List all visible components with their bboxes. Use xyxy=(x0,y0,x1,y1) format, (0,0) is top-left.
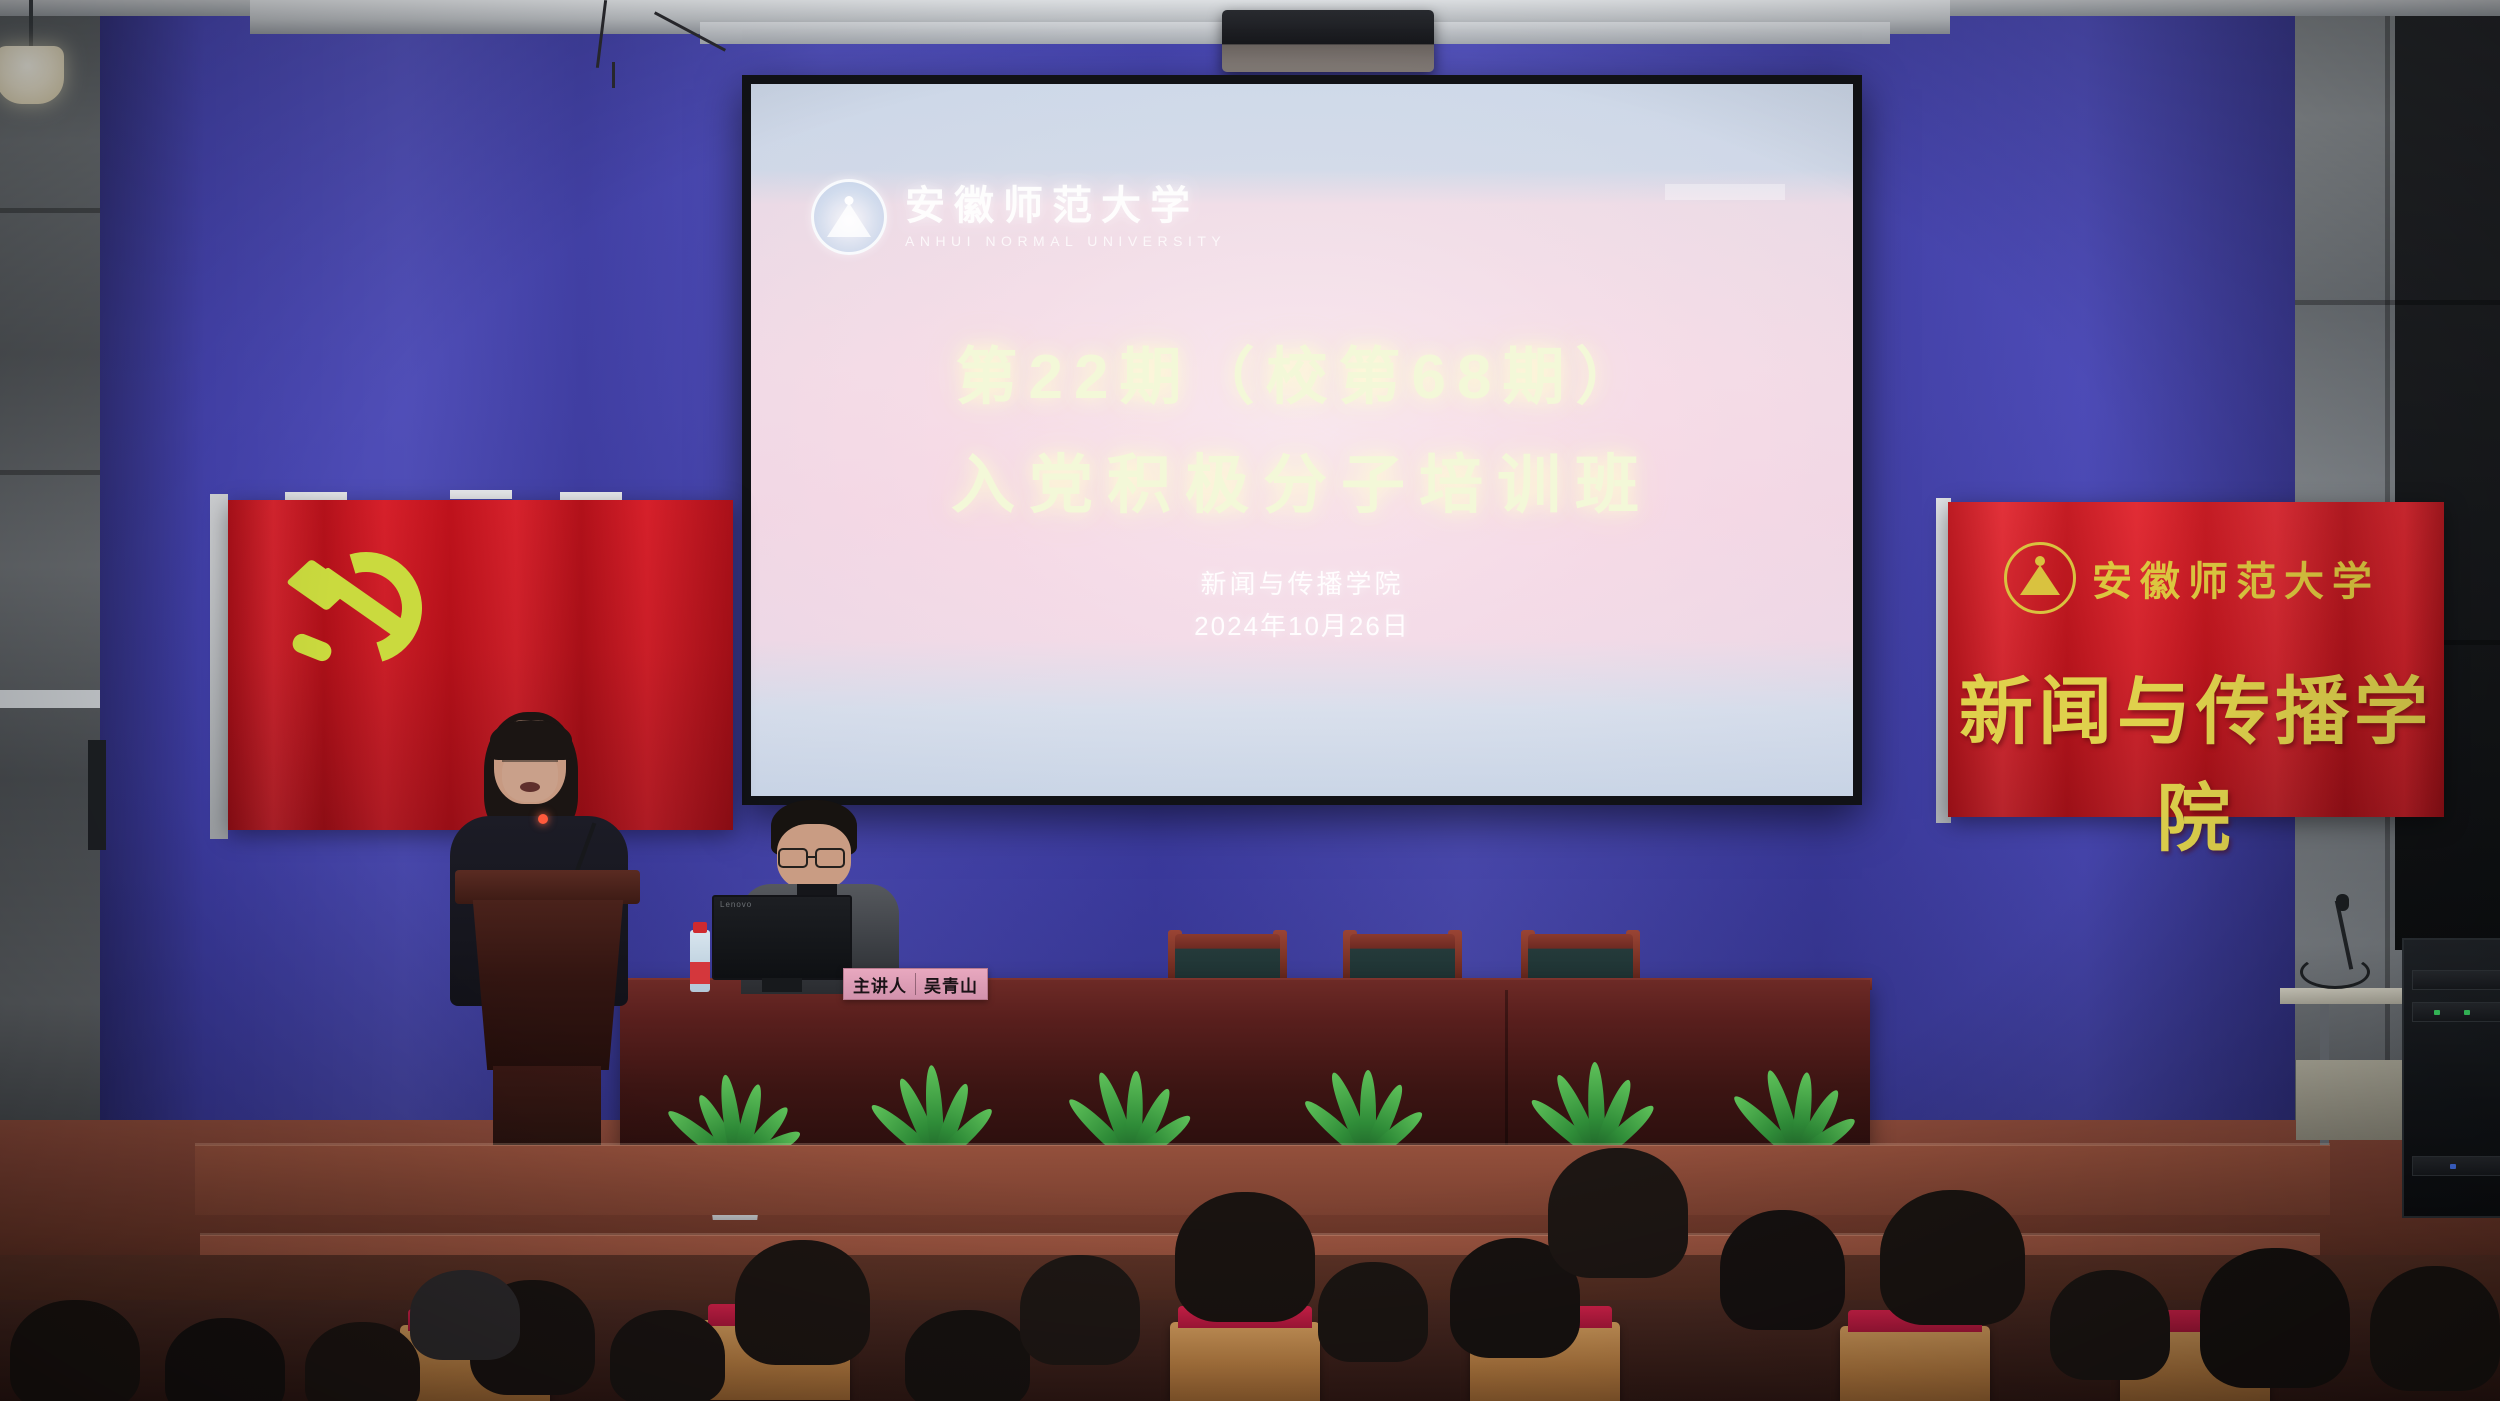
chair-back xyxy=(1350,934,1455,982)
slide-university-logo: 安徽师范大学 ANHUI NORMAL UNIVERSITY xyxy=(811,179,1226,255)
speaker-bangs xyxy=(490,720,572,760)
university-seal-icon xyxy=(811,179,887,255)
microphone-cable xyxy=(2300,955,2370,989)
slide-title-line2: 入党积极分子培训班 xyxy=(751,434,1853,526)
glasses-icon xyxy=(502,760,558,771)
microphone-led-icon xyxy=(538,814,548,824)
audience-head xyxy=(1720,1210,1845,1330)
left-wall-strip xyxy=(0,690,100,708)
university-seal-icon xyxy=(2004,542,2076,614)
slide-department: 新闻与传播学院 xyxy=(751,564,1853,601)
rack-led-icon xyxy=(2450,1164,2456,1169)
glasses-bridge xyxy=(807,856,817,858)
microphone-head xyxy=(2336,894,2349,911)
department-banner: 安徽师范大学 新闻与传播学院 xyxy=(1948,502,2444,817)
monitor-stand xyxy=(762,978,802,992)
audience-head xyxy=(2370,1266,2500,1391)
monitor-brand-label: Lenovo xyxy=(720,900,752,909)
banner-department-name: 新闻与传播学院 xyxy=(1948,652,2444,866)
wall-seam xyxy=(0,470,100,475)
rack-unit xyxy=(2412,1002,2500,1022)
speaker-mouth xyxy=(520,782,540,792)
desk-shelf xyxy=(2296,1060,2416,1140)
flag-tab xyxy=(450,490,512,499)
computer-monitor: Lenovo xyxy=(712,895,852,980)
nameplate-role: 主讲人 xyxy=(853,972,907,997)
projector-icon xyxy=(1222,10,1434,72)
glasses-icon xyxy=(778,848,808,868)
speaker-nameplate: 主讲人 吴青山 xyxy=(843,968,988,1000)
av-equipment-rack xyxy=(2402,938,2500,1218)
pendant-lamp-icon xyxy=(0,0,66,155)
ceiling-wire xyxy=(612,62,615,88)
left-wall-dark-box xyxy=(88,740,106,850)
slide-title-line1: 第22期（校第68期） xyxy=(751,326,1853,416)
rack-led-icon xyxy=(2434,1010,2440,1015)
glasses-icon xyxy=(815,848,845,868)
audience-head xyxy=(305,1322,420,1401)
nameplate-name: 吴青山 xyxy=(924,972,978,997)
podium-top xyxy=(455,870,640,904)
lamp-shade xyxy=(0,46,64,104)
audience-head xyxy=(1548,1148,1688,1278)
slide-university-name-cn: 安徽师范大学 xyxy=(905,186,1226,226)
lecture-hall-photo: 安徽师范大学 ANHUI NORMAL UNIVERSITY 第22期（校第68… xyxy=(0,0,2500,1401)
bottle-label xyxy=(690,962,710,984)
rack-unit xyxy=(2412,1156,2500,1176)
table-seam xyxy=(1505,990,1508,1155)
flag-hanging-strip xyxy=(210,494,228,839)
slide-university-name-en: ANHUI NORMAL UNIVERSITY xyxy=(905,233,1226,249)
chair-back xyxy=(1175,934,1280,982)
audience-head xyxy=(1318,1262,1428,1362)
audience-head xyxy=(2200,1248,2350,1388)
rack-led-icon xyxy=(2464,1010,2470,1015)
audience-head xyxy=(1175,1192,1315,1322)
audience-head xyxy=(10,1300,140,1401)
audience-head xyxy=(610,1310,725,1401)
audience-head xyxy=(410,1270,520,1360)
wall-seam xyxy=(2295,300,2500,305)
nameplate-divider xyxy=(915,973,916,995)
audience-head xyxy=(735,1240,870,1365)
slide-date: 2024年10月26日 xyxy=(751,606,1853,643)
audience-seat xyxy=(1170,1322,1320,1401)
seal-dot xyxy=(845,196,854,205)
projection-screen-surface: 安徽师范大学 ANHUI NORMAL UNIVERSITY 第22期（校第68… xyxy=(751,84,1853,796)
speaker-podium xyxy=(455,870,640,1170)
chair-back xyxy=(1528,934,1633,982)
audience-head xyxy=(2050,1270,2170,1380)
projection-screen: 安徽师范大学 ANHUI NORMAL UNIVERSITY 第22期（校第68… xyxy=(742,75,1862,805)
audience-head xyxy=(1020,1255,1140,1365)
audience-head xyxy=(1880,1190,2025,1325)
bottle-cap xyxy=(693,922,707,933)
hammer-and-sickle-icon xyxy=(286,550,446,680)
slide-decoration-box xyxy=(1665,184,1785,200)
podium-body xyxy=(468,900,628,1070)
audience-head xyxy=(905,1310,1030,1401)
stage-edge xyxy=(195,1143,2330,1146)
audience-head xyxy=(165,1318,285,1401)
rack-unit xyxy=(2412,970,2500,990)
banner-university-row: 安徽师范大学 xyxy=(2004,542,2380,614)
wall-seam xyxy=(0,208,100,213)
audience-seat xyxy=(1840,1326,1990,1401)
banner-university-name: 安徽师范大学 xyxy=(2092,549,2380,607)
left-wall-panel xyxy=(0,0,100,1180)
seal-dot xyxy=(2035,556,2045,566)
